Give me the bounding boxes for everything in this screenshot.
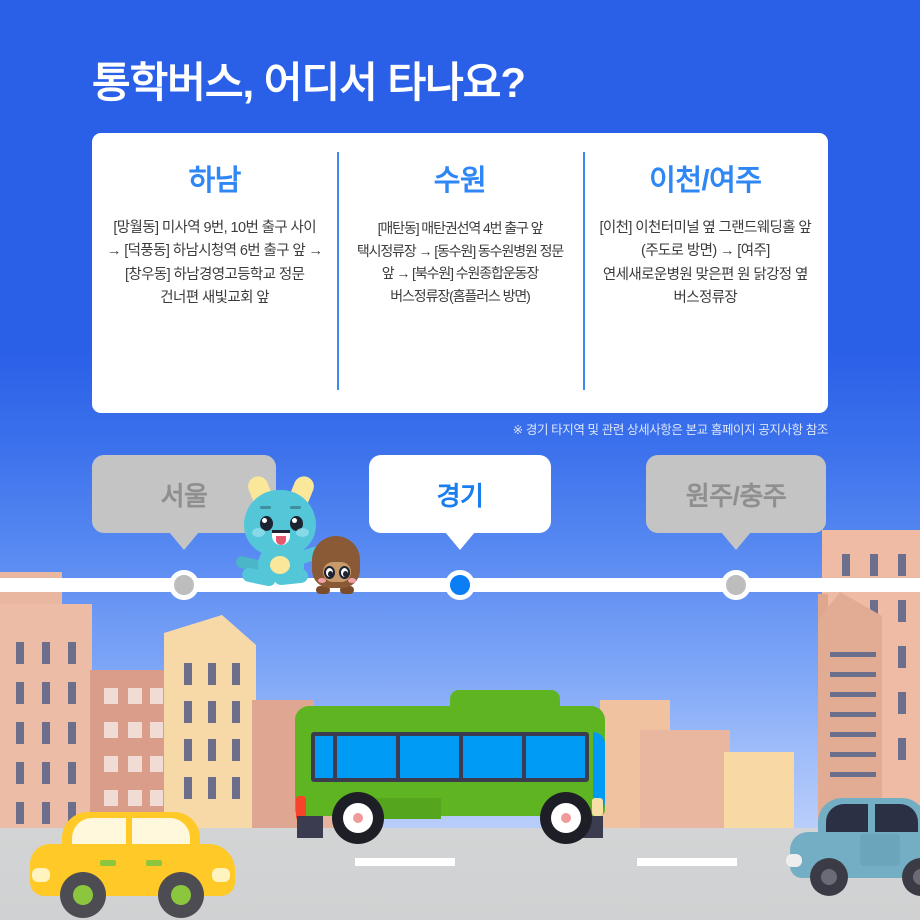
car-door-handle [100, 860, 116, 866]
region-column-suwon: 수원 [매탄동] 매탄권선역 4번 출구 앞 택시정류장 → [동수원] 동수원… [337, 133, 582, 413]
bus-window [337, 736, 396, 778]
pinecone-cheek [348, 578, 356, 583]
tab-pointer-icon [721, 532, 751, 550]
bus-head-light [592, 798, 603, 816]
mascot-cheek [296, 528, 309, 537]
car-head-light [786, 854, 802, 867]
building [724, 752, 794, 832]
road-dash [355, 858, 455, 866]
region-tab-gyeonggi[interactable]: 경기 [369, 455, 551, 533]
bus-window-row [311, 732, 589, 782]
car-wheel [810, 858, 848, 896]
region-column-title: 이천/여주 [649, 157, 761, 199]
region-dot-gyeonggi[interactable] [445, 570, 475, 600]
footnote: ※ 경기 타지역 및 관련 상세사항은 본교 홈페이지 공지사항 참조 [513, 419, 828, 438]
bus-wheel [540, 792, 592, 844]
region-column-body: [이천] 이천터미널 옆 그랜드웨딩홀 앞(주도로 방면) → [여주] 연세새… [597, 217, 814, 311]
bus-stop-card: 하남 [망월동] 미사역 9번, 10번 출구 사이 → [덕풍동] 하남시청역… [92, 133, 828, 413]
car-wheel [60, 872, 106, 918]
pinecone-mascot [310, 536, 362, 592]
region-tab-label: 서울 [161, 476, 208, 513]
pinecone-eye [324, 566, 335, 579]
infographic-stage: 통학버스, 어디서 타나요? 하남 [망월동] 미사역 9번, 10번 출구 사… [0, 0, 920, 920]
region-column-icheon-yeoju: 이천/여주 [이천] 이천터미널 옆 그랜드웨딩홀 앞(주도로 방면) → [여… [583, 133, 828, 413]
bus-wheel [332, 792, 384, 844]
pinecone-cheek [318, 578, 326, 583]
tab-pointer-icon [169, 532, 199, 550]
bus-window [315, 736, 333, 778]
bus-window [463, 736, 522, 778]
mascot-belly [270, 556, 290, 574]
region-dot-wonju-chungju[interactable] [721, 570, 751, 600]
region-column-title: 하남 [188, 157, 240, 199]
car-head-light [32, 868, 50, 882]
region-dot-seoul[interactable] [169, 570, 199, 600]
car-tail-light [212, 868, 230, 882]
yellow-car [30, 800, 235, 910]
region-column-body: [망월동] 미사역 9번, 10번 출구 사이 → [덕풍동] 하남시청역 6번… [106, 217, 323, 311]
region-column-title: 수원 [434, 157, 486, 199]
bus-bumper-rear [297, 816, 323, 838]
mascot-brow [260, 506, 271, 509]
road-dash [637, 858, 737, 866]
car-wheel [158, 872, 204, 918]
mascot-brow [290, 506, 301, 509]
car-door-handle [146, 860, 162, 866]
region-tab-label: 경기 [437, 476, 484, 513]
region-tab-label: 원주/충주 [686, 476, 786, 513]
region-column-body: [매탄동] 매탄권선역 4번 출구 앞 택시정류장 → [동수원] 동수원병원 … [351, 217, 568, 308]
bus-window [400, 736, 459, 778]
page-title: 통학버스, 어디서 타나요? [92, 60, 792, 106]
building [0, 604, 92, 832]
blue-car [790, 792, 920, 892]
region-tab-wonju-chungju[interactable]: 원주/충주 [646, 455, 826, 533]
car-door [860, 834, 900, 866]
car-body [790, 832, 920, 878]
pinecone-eye [339, 566, 350, 579]
school-bus [295, 688, 605, 833]
mascot-cheek [252, 528, 265, 537]
mascot-head [244, 490, 316, 556]
region-column-hanam: 하남 [망월동] 미사역 9번, 10번 출구 사이 → [덕풍동] 하남시청역… [92, 133, 337, 413]
building [640, 730, 730, 832]
car-pillar [868, 804, 875, 834]
tab-pointer-icon [445, 532, 475, 550]
bus-window [526, 736, 585, 778]
